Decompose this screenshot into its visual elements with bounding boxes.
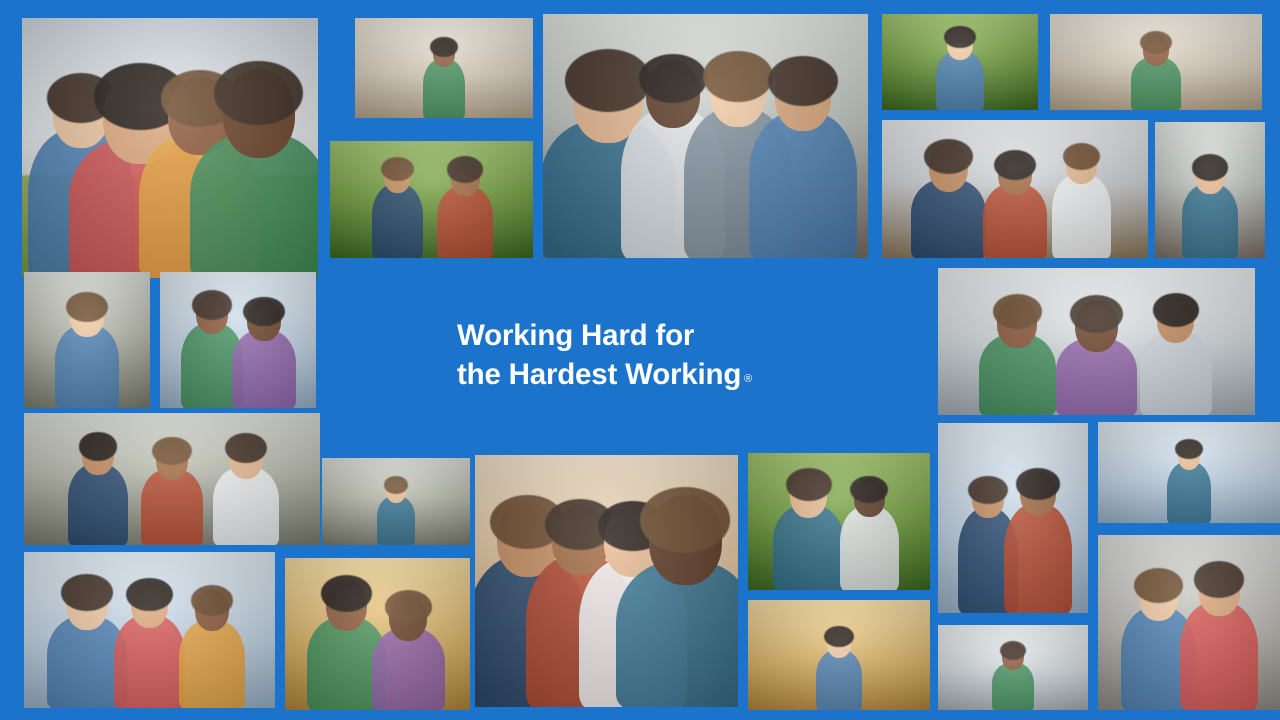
collage-photo-mother-kissing-daughter [475,455,738,707]
photo-grade [882,120,1148,258]
collage-photo-senior-couple [160,272,316,408]
collage-photo-family-outdoors-piggyback [285,558,470,710]
photo-grade [1098,422,1280,523]
photo-grade [24,413,320,545]
photo-grade [160,272,316,408]
photo-grade [22,18,318,278]
collage-photo-mother-daughter-yellow [330,141,533,258]
photo-grade [475,455,738,707]
photo-grade [882,14,1038,110]
photo-grade [285,558,470,710]
collage-photo-servicewoman-portrait [748,453,930,590]
photo-grade [330,141,533,258]
headline-line-2: the Hardest Working [457,358,741,391]
photo-grade [543,14,868,258]
collage-photo-cafe-worker-phone [1155,122,1265,258]
collage-photo-barista-cafe-owner [543,14,868,258]
collage-photo-nurse-with-child [1098,422,1280,523]
photo-grade [355,18,533,118]
collage-photo-family-in-field [748,600,930,710]
collage-photo-warehouse-woman-apron [322,458,470,545]
collage-photo-construction-workers-break [24,413,320,545]
registered-trademark-icon: ® [744,373,752,385]
photo-grade [748,600,930,710]
photo-grade [1155,122,1265,258]
collage-photo-family-living-room [24,552,275,708]
collage-photo-office-woman-desk [938,268,1255,415]
photo-grade [24,272,150,408]
photo-grade [938,268,1255,415]
photo-grade [938,423,1088,613]
collage-photo-couple-embracing [938,423,1088,613]
headline: Working Hard for the Hardest Working® [457,316,817,394]
photo-grade [938,625,1088,710]
collage-photo-military-family-hug [882,14,1038,110]
photo-grade [24,552,275,708]
collage-photo-woman-celebrating [1098,535,1280,710]
collage-stage: Working Hard for the Hardest Working® [0,0,1280,720]
collage-photo-auto-mechanic [882,120,1148,258]
photo-grade [322,458,470,545]
photo-grade [1098,535,1280,710]
photo-grade [748,453,930,590]
collage-photo-warehouse-worker-polo [24,272,150,408]
collage-photo-woman-olive-top [938,625,1088,710]
collage-photo-classroom-teacher-kids [1050,14,1262,110]
collage-photo-family-outdoors-street [22,18,318,278]
photo-grade [1050,14,1262,110]
headline-line-1: Working Hard for [457,316,817,355]
collage-photo-family-tablet-couch [355,18,533,118]
